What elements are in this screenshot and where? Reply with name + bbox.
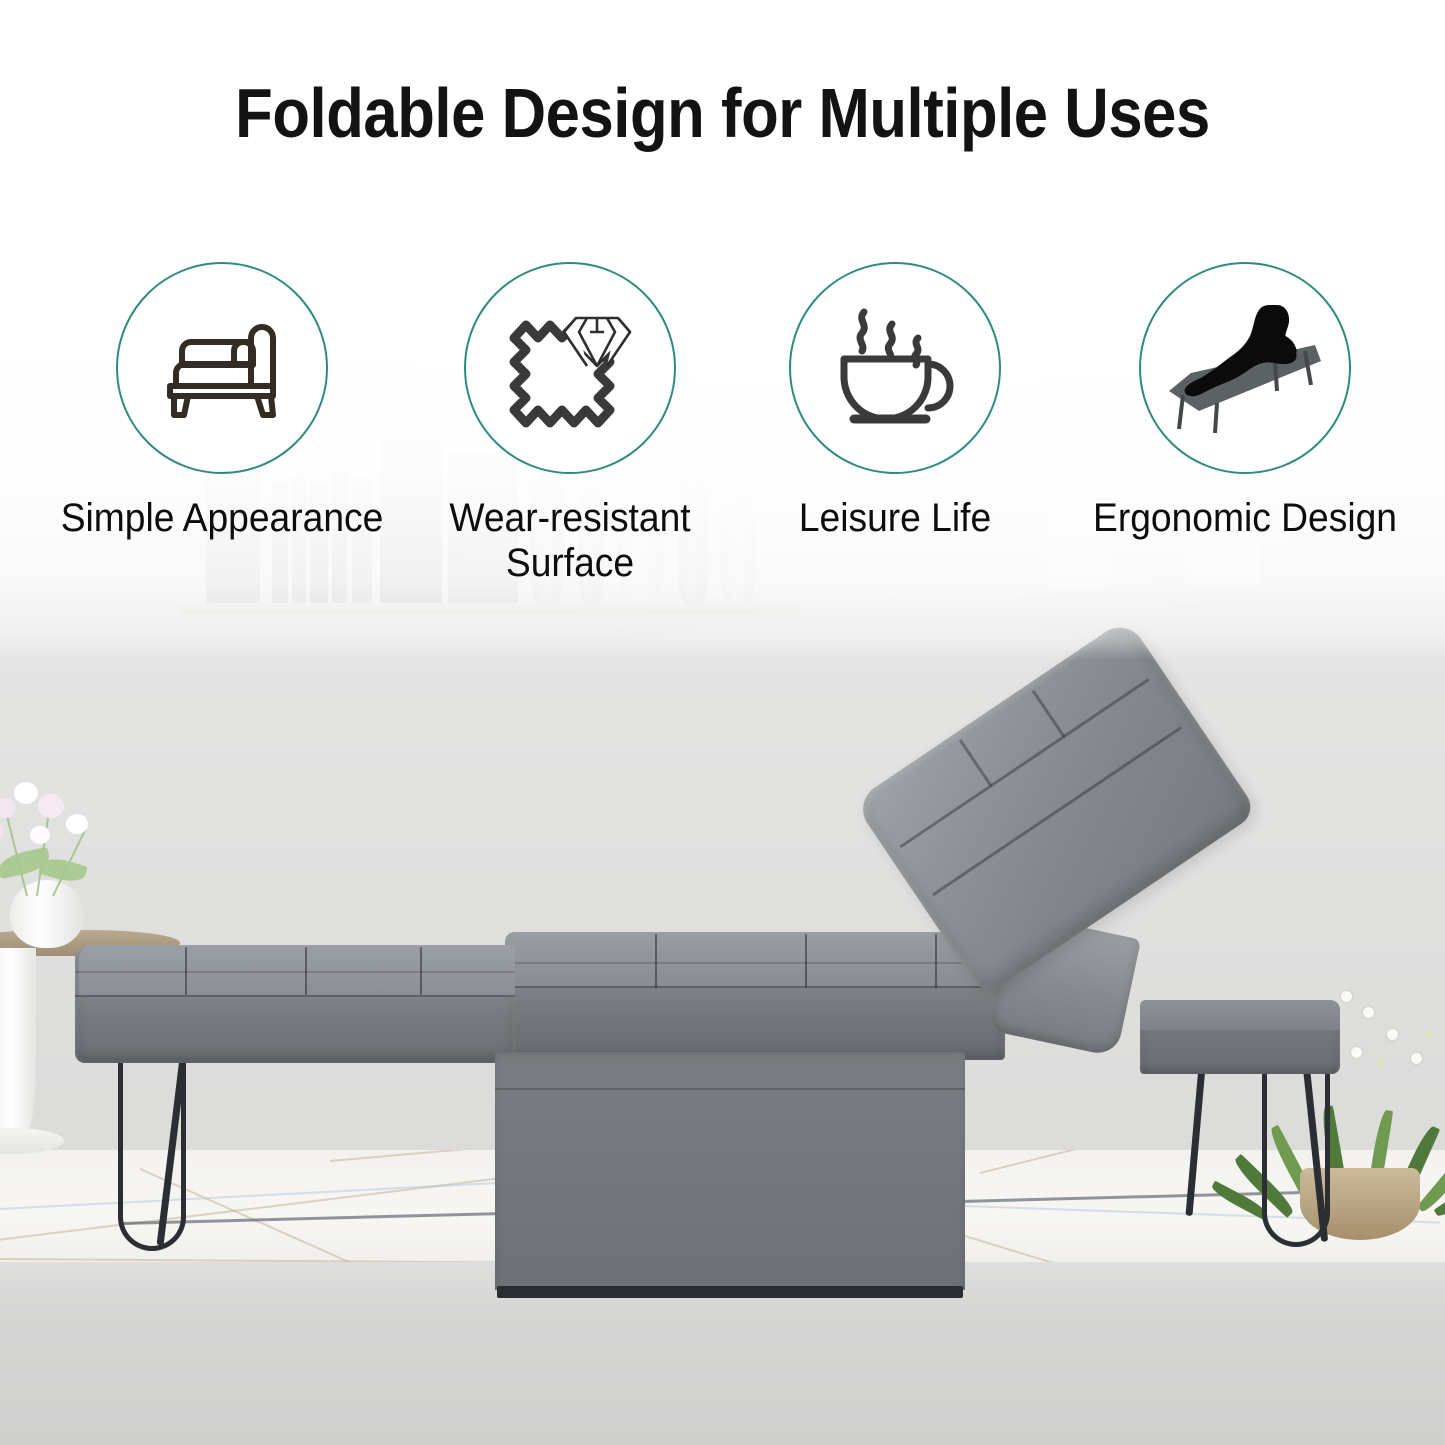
foldable-sofa-bed	[0, 700, 1445, 1320]
quilt-stitch	[505, 986, 1005, 988]
backrest-seam	[959, 739, 993, 787]
fabric-diamond-icon	[502, 302, 638, 435]
shelf-board	[180, 603, 800, 615]
feature-row: Simple Appearance	[0, 262, 1445, 592]
feature-label: Wear-resistant Surface	[429, 496, 712, 586]
coffee-cup-icon	[828, 302, 962, 435]
sofa-right-extension	[1140, 1000, 1340, 1074]
bed-icon	[158, 311, 286, 426]
quilt-stitch	[655, 934, 657, 988]
sofa-mid-cushion	[505, 932, 1005, 1060]
quilt-stitch	[805, 934, 807, 988]
sofa-left-cushion	[75, 945, 515, 1063]
feature-item-ergonomic-design: Ergonomic Design	[1045, 262, 1445, 541]
page-title: Foldable Design for Multiple Uses	[87, 78, 1359, 148]
feature-circle	[789, 262, 1001, 474]
product-feature-image: Foldable Design for Multiple Uses	[0, 0, 1445, 1445]
feature-label: Ergonomic Design	[1059, 496, 1431, 541]
sofa-leg-right-post	[1185, 1066, 1205, 1216]
quilt-stitch	[75, 971, 515, 973]
backrest-seam	[1032, 690, 1066, 738]
feature-item-simple-appearance: Simple Appearance	[22, 262, 422, 541]
reclining-person-icon	[1165, 299, 1325, 438]
room-scene	[0, 0, 1445, 1445]
feature-label: Leisure Life	[744, 496, 1045, 541]
feature-label: Simple Appearance	[36, 496, 408, 541]
quilt-stitch	[505, 962, 1005, 964]
feature-circle	[464, 262, 676, 474]
feature-item-leisure-life: Leisure Life	[733, 262, 1057, 541]
skirt-fold-line	[495, 1088, 965, 1090]
quilt-stitch	[935, 934, 937, 988]
feature-circle	[1139, 262, 1351, 474]
sofa-center-skirt	[495, 1052, 965, 1290]
feature-circle	[116, 262, 328, 474]
backrest-seam	[899, 678, 1149, 848]
feature-item-wear-resistant: Wear-resistant Surface	[418, 262, 722, 586]
quilt-stitch	[75, 995, 515, 997]
